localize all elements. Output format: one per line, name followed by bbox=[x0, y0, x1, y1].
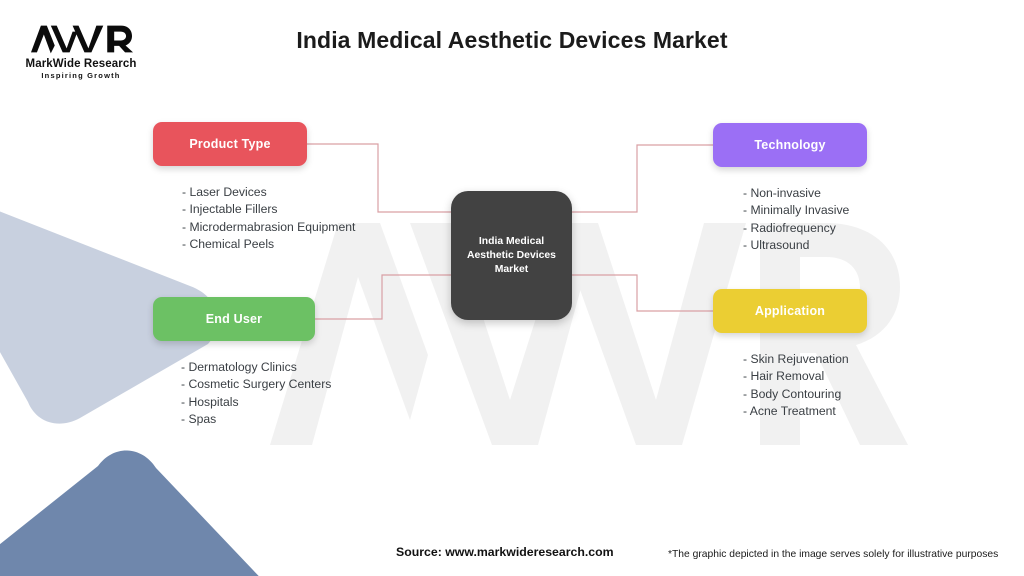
decor-shape-dark bbox=[0, 440, 300, 576]
center-node-label: India Medical Aesthetic Devices Market bbox=[460, 235, 563, 277]
infographic-canvas: MarkWide Research Inspiring Growth India… bbox=[0, 0, 1024, 576]
branch-header-technology[interactable]: Technology bbox=[713, 123, 867, 167]
branch-end-user[interactable]: End User - Dermatology Clinics - Cosmeti… bbox=[153, 297, 315, 429]
list-item: - Injectable Fillers bbox=[182, 201, 307, 218]
list-item: - Body Contouring bbox=[743, 386, 867, 403]
list-item: - Dermatology Clinics bbox=[181, 359, 315, 376]
list-item: - Laser Devices bbox=[182, 184, 307, 201]
list-item: - Hair Removal bbox=[743, 368, 867, 385]
list-item: - Microdermabrasion Equipment bbox=[182, 219, 307, 236]
list-item: - Cosmetic Surgery Centers bbox=[181, 376, 315, 393]
footer-source[interactable]: Source: www.markwideresearch.com bbox=[396, 545, 614, 559]
list-item: - Acne Treatment bbox=[743, 403, 867, 420]
logo-tagline: Inspiring Growth bbox=[16, 71, 146, 80]
branch-application[interactable]: Application - Skin Rejuvenation - Hair R… bbox=[713, 289, 867, 421]
branch-header-product-type[interactable]: Product Type bbox=[153, 122, 307, 166]
list-item: - Ultrasound bbox=[743, 237, 867, 254]
list-item: - Radiofrequency bbox=[743, 220, 867, 237]
list-item: - Spas bbox=[181, 411, 315, 428]
list-item: - Skin Rejuvenation bbox=[743, 351, 867, 368]
list-item: - Non-invasive bbox=[743, 185, 867, 202]
connector-application bbox=[572, 275, 713, 311]
connector-product-type bbox=[307, 144, 451, 212]
center-node-line-2: Aesthetic Devices bbox=[467, 250, 556, 261]
list-item: - Chemical Peels bbox=[182, 236, 307, 253]
connector-end-user bbox=[315, 275, 451, 319]
branch-list-application: - Skin Rejuvenation - Hair Removal - Bod… bbox=[713, 351, 867, 421]
center-node[interactable]: India Medical Aesthetic Devices Market bbox=[451, 191, 572, 320]
list-item: - Minimally Invasive bbox=[743, 202, 867, 219]
branch-list-end-user: - Dermatology Clinics - Cosmetic Surgery… bbox=[153, 359, 315, 429]
branch-product-type[interactable]: Product Type - Laser Devices - Injectabl… bbox=[153, 122, 307, 254]
page-title: India Medical Aesthetic Devices Market bbox=[0, 27, 1024, 54]
branch-technology[interactable]: Technology - Non-invasive - Minimally In… bbox=[713, 123, 867, 255]
connector-technology bbox=[572, 145, 713, 212]
branch-list-technology: - Non-invasive - Minimally Invasive - Ra… bbox=[713, 185, 867, 255]
list-item: - Hospitals bbox=[181, 394, 315, 411]
footer-disclaimer: *The graphic depicted in the image serve… bbox=[668, 549, 998, 560]
center-node-line-1: India Medical bbox=[479, 236, 544, 247]
branch-header-end-user[interactable]: End User bbox=[153, 297, 315, 341]
branch-list-product-type: - Laser Devices - Injectable Fillers - M… bbox=[153, 184, 307, 254]
center-node-line-3: Market bbox=[495, 264, 529, 275]
branch-header-application[interactable]: Application bbox=[713, 289, 867, 333]
logo-company-name: MarkWide Research bbox=[16, 58, 146, 70]
